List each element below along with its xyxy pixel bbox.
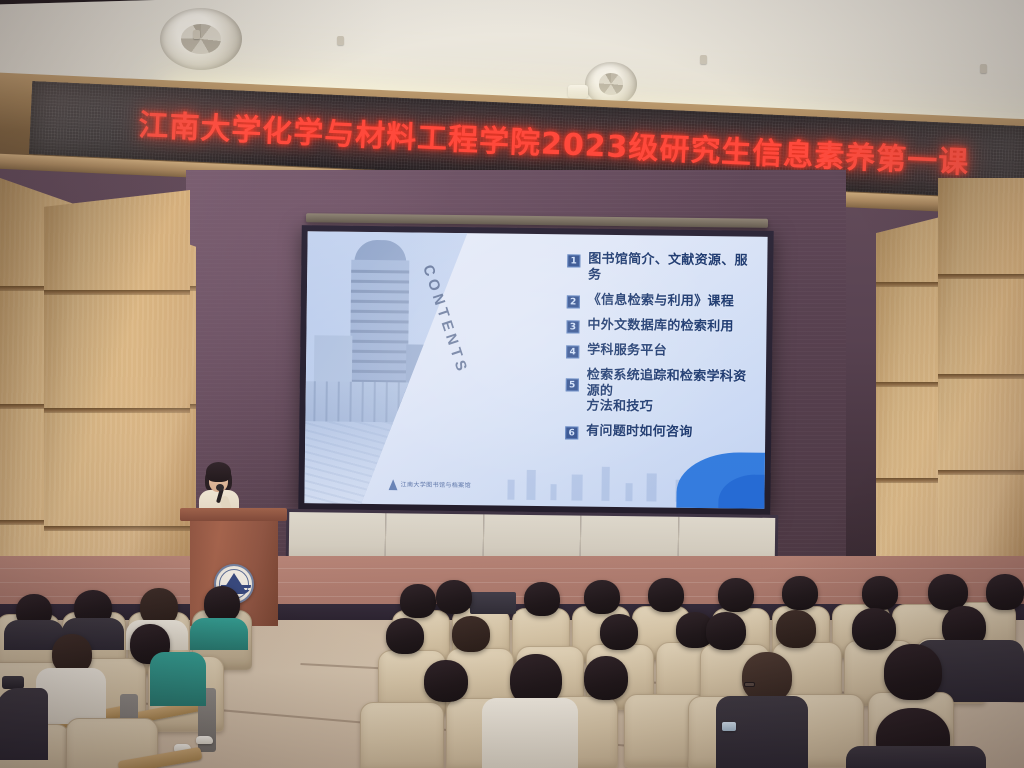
audience-head [524, 582, 560, 616]
wood-acoustic-panel-left-inner [44, 190, 190, 608]
slide-item-3: 3 中外文数据库的检索利用 [566, 317, 758, 335]
ceiling-fixture-b [337, 36, 344, 45]
slide-item-4: 4 学科服务平台 [566, 342, 758, 360]
eyeglasses-icon [744, 682, 755, 687]
audience-head [584, 656, 628, 700]
audience-head [584, 580, 620, 614]
audience-shoulders [846, 746, 986, 768]
audience-head [424, 660, 468, 702]
projection-screen[interactable]: CONTENTS 江南大学图书馆与档案馆 1 图书馆简介、文献资源、服务 2 《… [298, 225, 773, 515]
audience-head [852, 608, 896, 650]
slide-contents-list: 1 图书馆简介、文献资源、服务 2 《信息检索与利用》课程 3 中外文数据库的检… [565, 251, 760, 451]
ceiling-fixture-d [980, 64, 987, 73]
slide-item-2: 2 《信息检索与利用》课程 [567, 292, 759, 310]
slide-item-number: 5 [566, 378, 579, 391]
audience-head [452, 616, 490, 652]
wood-shadow-left-inner [44, 190, 190, 608]
speaker-hair [206, 462, 231, 482]
ceiling-fixture-a [193, 30, 200, 39]
ceiling-sensor [568, 85, 588, 98]
library-logo-icon [389, 479, 398, 490]
audience-head [776, 610, 816, 648]
audience-head [742, 652, 792, 702]
audience-shoe [196, 736, 213, 744]
audience-head [600, 614, 638, 650]
audience-arm [0, 688, 48, 760]
slide-item-1: 1 图书馆简介、文献资源、服务 [567, 251, 759, 285]
audience-shoulders [716, 696, 808, 768]
seat[interactable] [360, 702, 444, 768]
slide-item-text: 中外文数据库的检索利用 [587, 317, 733, 335]
audience-head [436, 580, 472, 614]
panel-segment [289, 512, 387, 560]
auditorium-photo: 江南大学化学与材料工程学院2023级研究生信息素养第一课 [0, 0, 1024, 768]
podium-top-surface [180, 508, 287, 521]
audience-head [782, 576, 818, 610]
slide-item-text: 学科服务平台 [587, 342, 667, 359]
panel-segment [386, 513, 484, 561]
slide-item-text-line1: 检索系统追踪和检索学科资源的 [587, 367, 758, 401]
audience-head [862, 576, 898, 610]
smartphone-device[interactable] [722, 722, 736, 731]
slide-item-5: 5 检索系统追踪和检索学科资源的 方法和技巧 [565, 367, 758, 417]
ceiling-fan-vent-left [160, 8, 242, 70]
slide-item-text: 有问题时如何咨询 [586, 424, 693, 441]
slide-watermark: 江南大学图书馆与档案馆 [401, 479, 472, 489]
audience-head [400, 584, 436, 618]
audience-head [884, 644, 942, 700]
microphone-head-icon [216, 484, 224, 491]
audience-shoulders [150, 652, 206, 706]
audience-head [986, 574, 1024, 610]
slide-item-number: 3 [566, 320, 579, 333]
slide-surface: CONTENTS 江南大学图书馆与档案馆 1 图书馆简介、文献资源、服务 2 《… [304, 231, 767, 509]
slide-item-text: 图书馆简介、文献资源、服务 [588, 252, 759, 286]
audience-shoulders [190, 618, 248, 650]
slide-item-number: 1 [567, 254, 580, 267]
audience-head [386, 618, 424, 654]
slide-item-6: 6 有问题时如何咨询 [565, 424, 757, 442]
audience-head [706, 612, 746, 650]
ceiling-fixture-c [700, 55, 707, 64]
wood-shadow-right-inner [938, 178, 1024, 608]
audience-area [0, 596, 1024, 768]
slide-item-text-block: 检索系统追踪和检索学科资源的 方法和技巧 [586, 367, 758, 417]
wood-acoustic-panel-right-inner [938, 178, 1024, 608]
slide-item-text-line2: 方法和技巧 [586, 399, 757, 417]
laptop-device[interactable] [470, 592, 516, 614]
slide-item-text: 《信息检索与利用》课程 [588, 292, 734, 310]
audience-head [718, 578, 754, 612]
audience-shoulders [482, 698, 578, 768]
slide-item-number: 6 [565, 427, 578, 440]
audience-head [648, 578, 684, 612]
slide-item-number: 2 [567, 295, 580, 308]
audience-head [204, 586, 240, 622]
slide-item-number: 4 [566, 345, 579, 358]
audience-head [928, 574, 968, 610]
